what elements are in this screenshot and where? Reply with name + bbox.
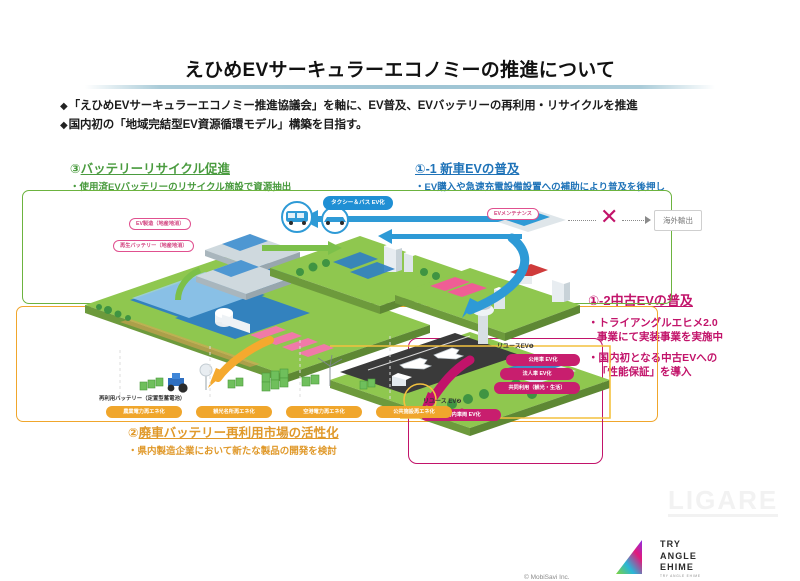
circular-economy-diagram: ③バッテリーリサイクル促進 ・使用済EVバッテリーのリサイクル施設で資源抽出 ①… [0, 150, 800, 490]
car-ev-icon [322, 207, 348, 233]
logo-line-ehime: EHIME [660, 562, 694, 572]
title-block: えひめEVサーキュラーエコノミーの推進について [85, 57, 715, 91]
try-angle-triangle-icon [612, 538, 656, 578]
logo-line-try: TRY [660, 539, 681, 549]
label-overseas-export: 海外輸出 [654, 210, 702, 231]
summary-bullets: ◆ 「えひめEVサーキュラーエコノミー推進協議会」を軸に、EV普及、EVバッテリ… [60, 97, 760, 135]
label-agriculture-renewable: 農業電力再エネ化 [106, 406, 182, 418]
logo-line-angle: ANGLE [660, 551, 697, 561]
slide-root: えひめEVサーキュラーエコノミーの推進について ◆ 「えひめEVサーキュラーエコ… [0, 0, 800, 533]
bullet-item: ◆ 「えひめEVサーキュラーエコノミー推進協議会」を軸に、EV普及、EVバッテリ… [60, 97, 760, 116]
bullet-item: ◆ 国内初の「地域完結型EV資源循環モデル」構築を目指す。 [60, 116, 760, 135]
bullet-text: 「えひめEVサーキュラーエコノミー推進協議会」を軸に、EV普及、EVバッテリーの… [69, 97, 638, 116]
label-ev-manufacture: EV製造（地産地消） [129, 218, 191, 230]
label-taxi-bus-ev: タクシー＆バス EV化 [323, 196, 393, 210]
label-ev-maintenance: EVメンテナンス [487, 208, 539, 220]
logo-wordmark: TRY ANGLE EHIME [660, 539, 697, 574]
label-tourism-renewable: 観光名所再エネ化 [196, 406, 272, 418]
export-arrow-left [568, 220, 596, 222]
label-reuse-ev-2: リユース EV❷ [423, 396, 461, 405]
export-arrowhead-icon [645, 216, 651, 224]
label-public-facility-renewable: 公共施設再エネ化 [376, 406, 452, 418]
bus-ev-icon [282, 202, 312, 232]
bullet-marker-icon: ◆ [60, 97, 68, 116]
copyright-notice: © MobiSavi Inc. [524, 574, 570, 581]
label-airport-renewable: 空港電力再エネ化 [286, 406, 362, 418]
bullet-marker-icon: ◆ [60, 116, 68, 135]
isometric-city-illustration [0, 150, 800, 490]
page-title: えひめEVサーキュラーエコノミーの推進について [85, 57, 715, 84]
bullet-text: 国内初の「地域完結型EV資源循環モデル」構築を目指す。 [69, 116, 368, 135]
label-reuse-battery: 再利用バッテリー（定置型蓄電池） [99, 394, 185, 402]
label-reuse-ev-1: リユースEV❶ [497, 341, 534, 350]
title-underline [85, 85, 715, 89]
label-public-vehicle-ev: 公用車 EV化 [506, 354, 580, 366]
label-reborn-battery: 再生バッテリー（地産地消） [113, 240, 194, 252]
prohibited-x-icon: ✕ [600, 208, 618, 226]
ligare-watermark: LIGARE [668, 487, 778, 517]
label-shared-use-ev: 共同利用（観光・生活） [494, 382, 580, 394]
try-angle-ehime-logo: TRY ANGLE EHIME TRY ANGLE EHIME [612, 538, 740, 580]
label-corporate-vehicle-ev: 法人車 EV化 [500, 368, 574, 380]
logo-tagline: TRY ANGLE EHIME [660, 574, 701, 578]
